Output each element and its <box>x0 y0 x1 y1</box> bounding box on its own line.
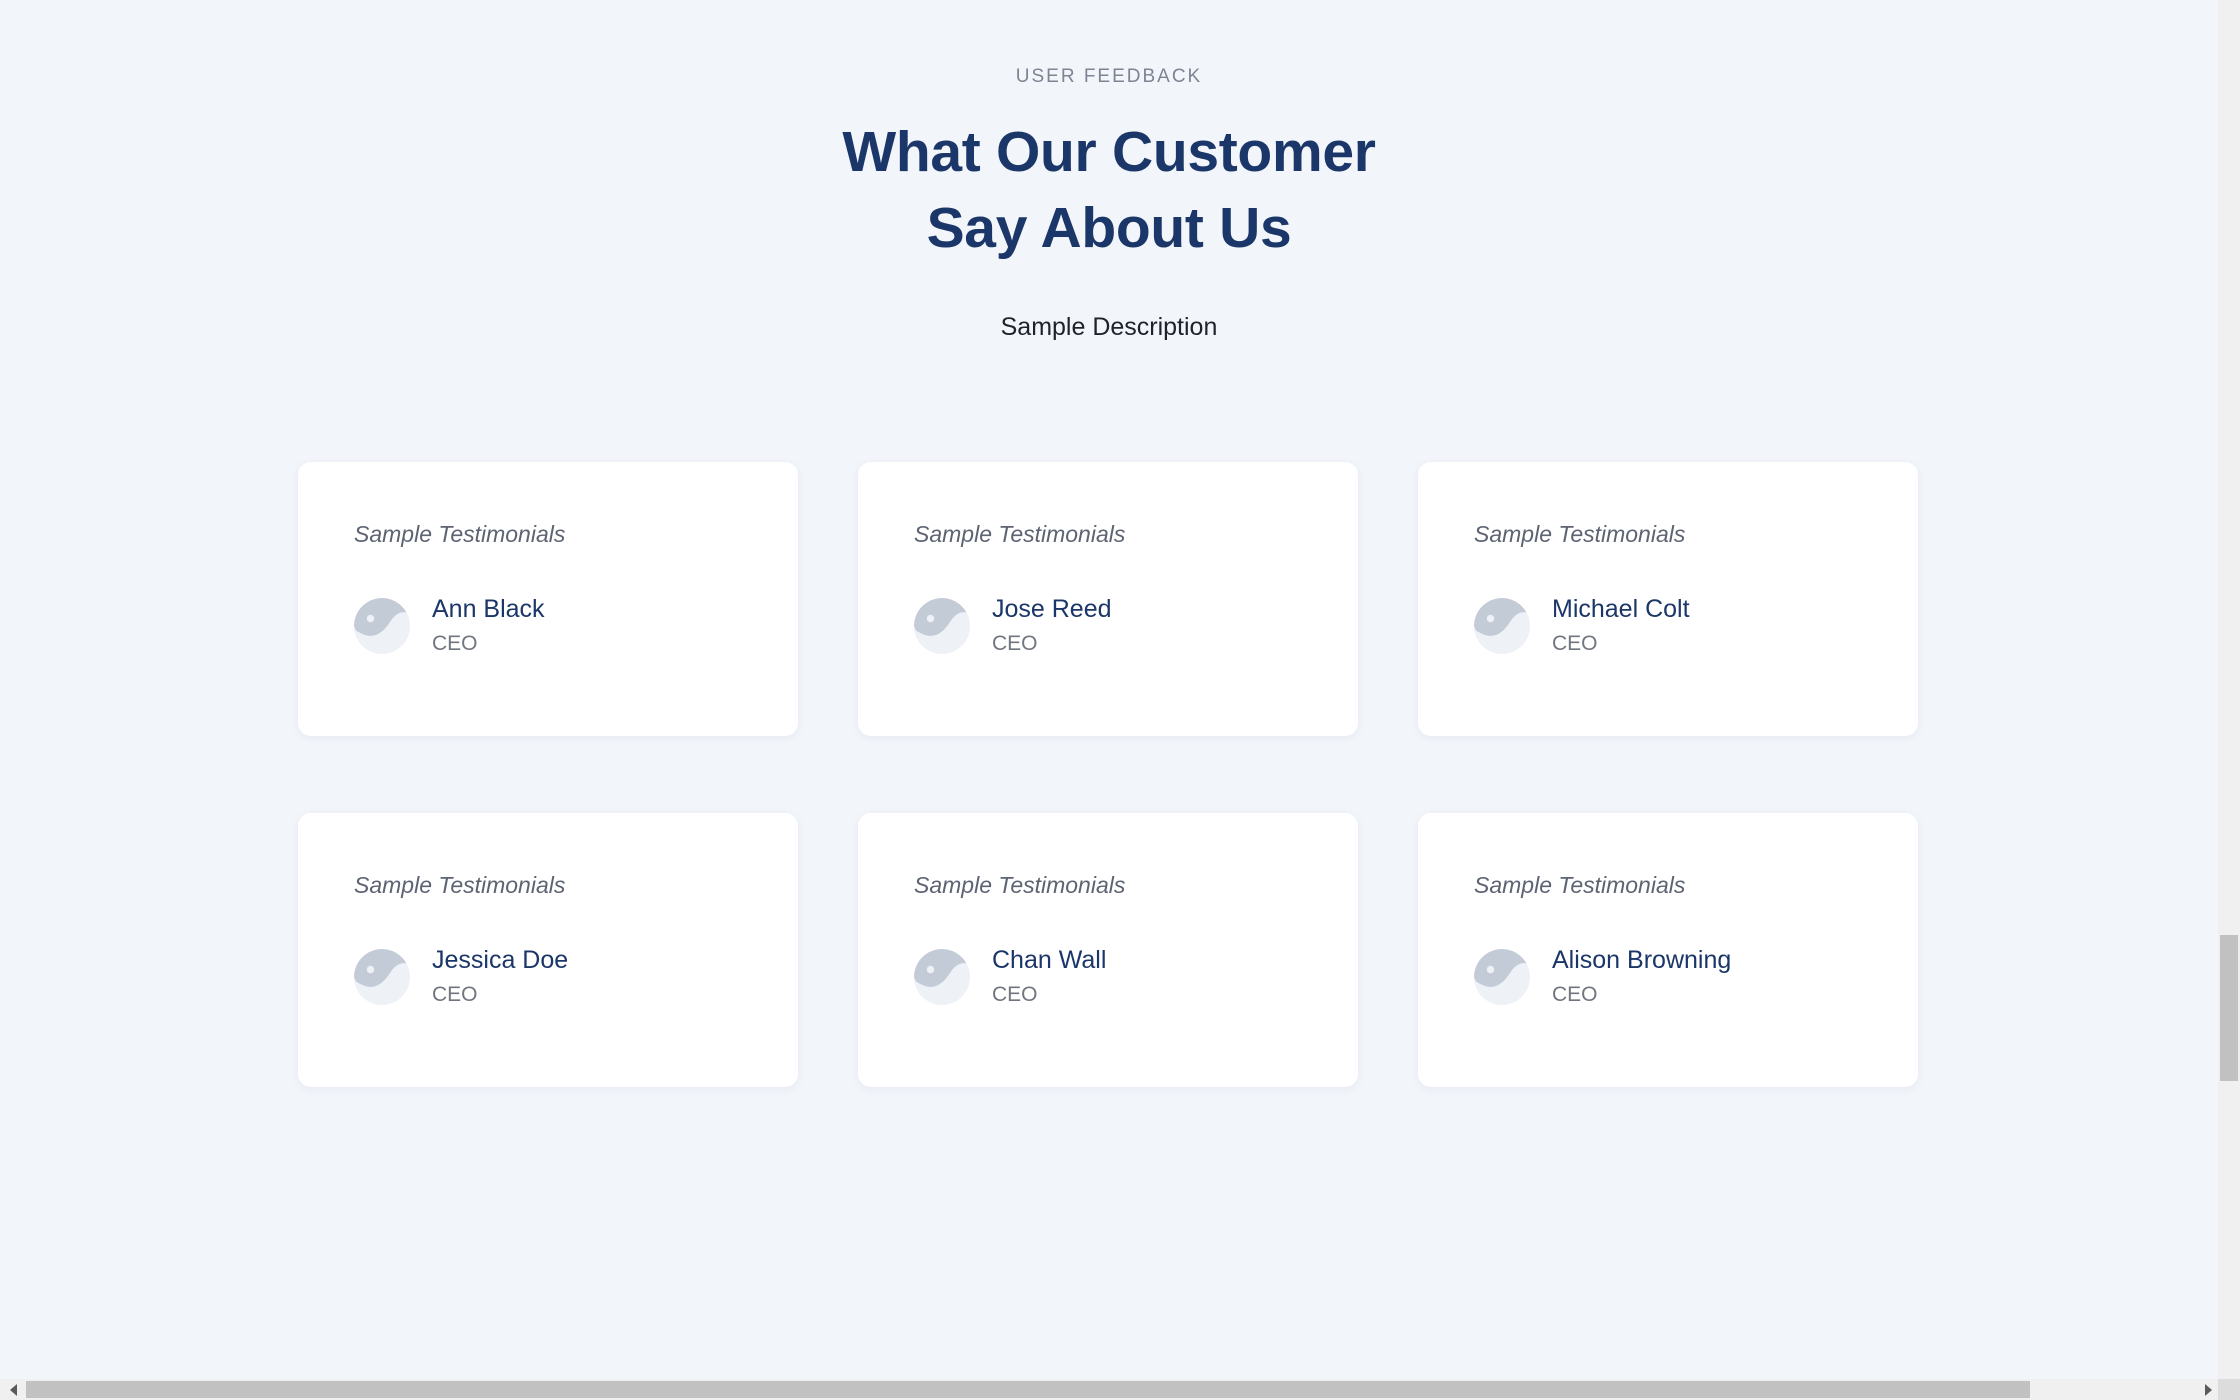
testimonial-author-text: Jessica Doe CEO <box>432 945 568 1008</box>
vertical-scrollbar[interactable] <box>2218 0 2240 1379</box>
testimonial-author-role: CEO <box>1552 981 1731 1008</box>
browser-viewport: USER FEEDBACK What Our Customer Say Abou… <box>0 0 2240 1400</box>
testimonial-author-name: Jessica Doe <box>432 945 568 976</box>
image-placeholder-icon <box>914 949 970 1005</box>
testimonial-author-role: CEO <box>1552 630 1690 657</box>
testimonial-quote: Sample Testimonials <box>914 869 1302 901</box>
testimonial-card[interactable]: Sample Testimonials Ann Black CEO <box>298 462 798 736</box>
testimonial-author-role: CEO <box>432 981 568 1008</box>
image-placeholder-icon <box>914 598 970 654</box>
testimonial-author-name: Michael Colt <box>1552 594 1690 625</box>
testimonials-row-1: Sample Testimonials Ann Black CEO <box>298 462 1918 736</box>
testimonial-quote: Sample Testimonials <box>1474 869 1862 901</box>
testimonial-author-text: Chan Wall CEO <box>992 945 1106 1008</box>
horizontal-scrollbar[interactable] <box>0 1379 2240 1400</box>
section-description: Sample Description <box>0 310 2218 345</box>
testimonial-author: Alison Browning CEO <box>1474 945 1862 1008</box>
vertical-scrollbar-thumb[interactable] <box>2220 935 2238 1081</box>
testimonial-author-name: Chan Wall <box>992 945 1106 976</box>
testimonials-grid: Sample Testimonials Ann Black CEO <box>298 462 1918 1087</box>
chevron-right-icon[interactable] <box>2198 1379 2219 1400</box>
testimonial-author: Michael Colt CEO <box>1474 594 1862 657</box>
testimonial-author: Jessica Doe CEO <box>354 945 742 1008</box>
page-title-line-2: Say About Us <box>927 196 1292 260</box>
image-placeholder-icon <box>1474 598 1530 654</box>
testimonial-card[interactable]: Sample Testimonials Alison Browning CEO <box>1418 813 1918 1087</box>
chevron-left-glyph <box>10 1384 17 1396</box>
chevron-left-icon[interactable] <box>3 1379 24 1400</box>
testimonial-author-name: Alison Browning <box>1552 945 1731 976</box>
testimonial-author-name: Ann Black <box>432 594 545 625</box>
testimonial-quote: Sample Testimonials <box>1474 518 1862 550</box>
page-title: What Our Customer Say About Us <box>729 115 1489 267</box>
testimonial-card[interactable]: Sample Testimonials Jessica Doe CEO <box>298 813 798 1087</box>
page-title-line-1: What Our Customer <box>842 120 1375 184</box>
testimonial-quote: Sample Testimonials <box>354 869 742 901</box>
hero-section: USER FEEDBACK What Our Customer Say Abou… <box>0 0 2218 345</box>
testimonial-quote: Sample Testimonials <box>354 518 742 550</box>
image-placeholder-icon <box>354 949 410 1005</box>
testimonial-author-name: Jose Reed <box>992 594 1112 625</box>
image-placeholder-icon <box>1474 949 1530 1005</box>
testimonial-author-role: CEO <box>432 630 545 657</box>
testimonials-row-2: Sample Testimonials Jessica Doe CEO <box>298 813 1918 1087</box>
section-eyebrow: USER FEEDBACK <box>0 66 2218 89</box>
testimonial-author-role: CEO <box>992 981 1106 1008</box>
testimonial-card[interactable]: Sample Testimonials Jose Reed CEO <box>858 462 1358 736</box>
testimonial-card[interactable]: Sample Testimonials Chan Wall CEO <box>858 813 1358 1087</box>
testimonial-author: Chan Wall CEO <box>914 945 1302 1008</box>
scrollbar-corner <box>2218 1379 2240 1400</box>
testimonial-author-text: Michael Colt CEO <box>1552 594 1690 657</box>
page-content: USER FEEDBACK What Our Customer Say Abou… <box>0 0 2218 1379</box>
testimonial-quote: Sample Testimonials <box>914 518 1302 550</box>
horizontal-scrollbar-thumb[interactable] <box>26 1381 2030 1398</box>
testimonial-card[interactable]: Sample Testimonials Michael Colt CEO <box>1418 462 1918 736</box>
testimonial-author: Jose Reed CEO <box>914 594 1302 657</box>
image-placeholder-icon <box>354 598 410 654</box>
testimonial-author-role: CEO <box>992 630 1112 657</box>
testimonial-author-text: Alison Browning CEO <box>1552 945 1731 1008</box>
testimonial-author-text: Jose Reed CEO <box>992 594 1112 657</box>
chevron-right-glyph <box>2205 1384 2212 1396</box>
testimonial-author: Ann Black CEO <box>354 594 742 657</box>
testimonial-author-text: Ann Black CEO <box>432 594 545 657</box>
